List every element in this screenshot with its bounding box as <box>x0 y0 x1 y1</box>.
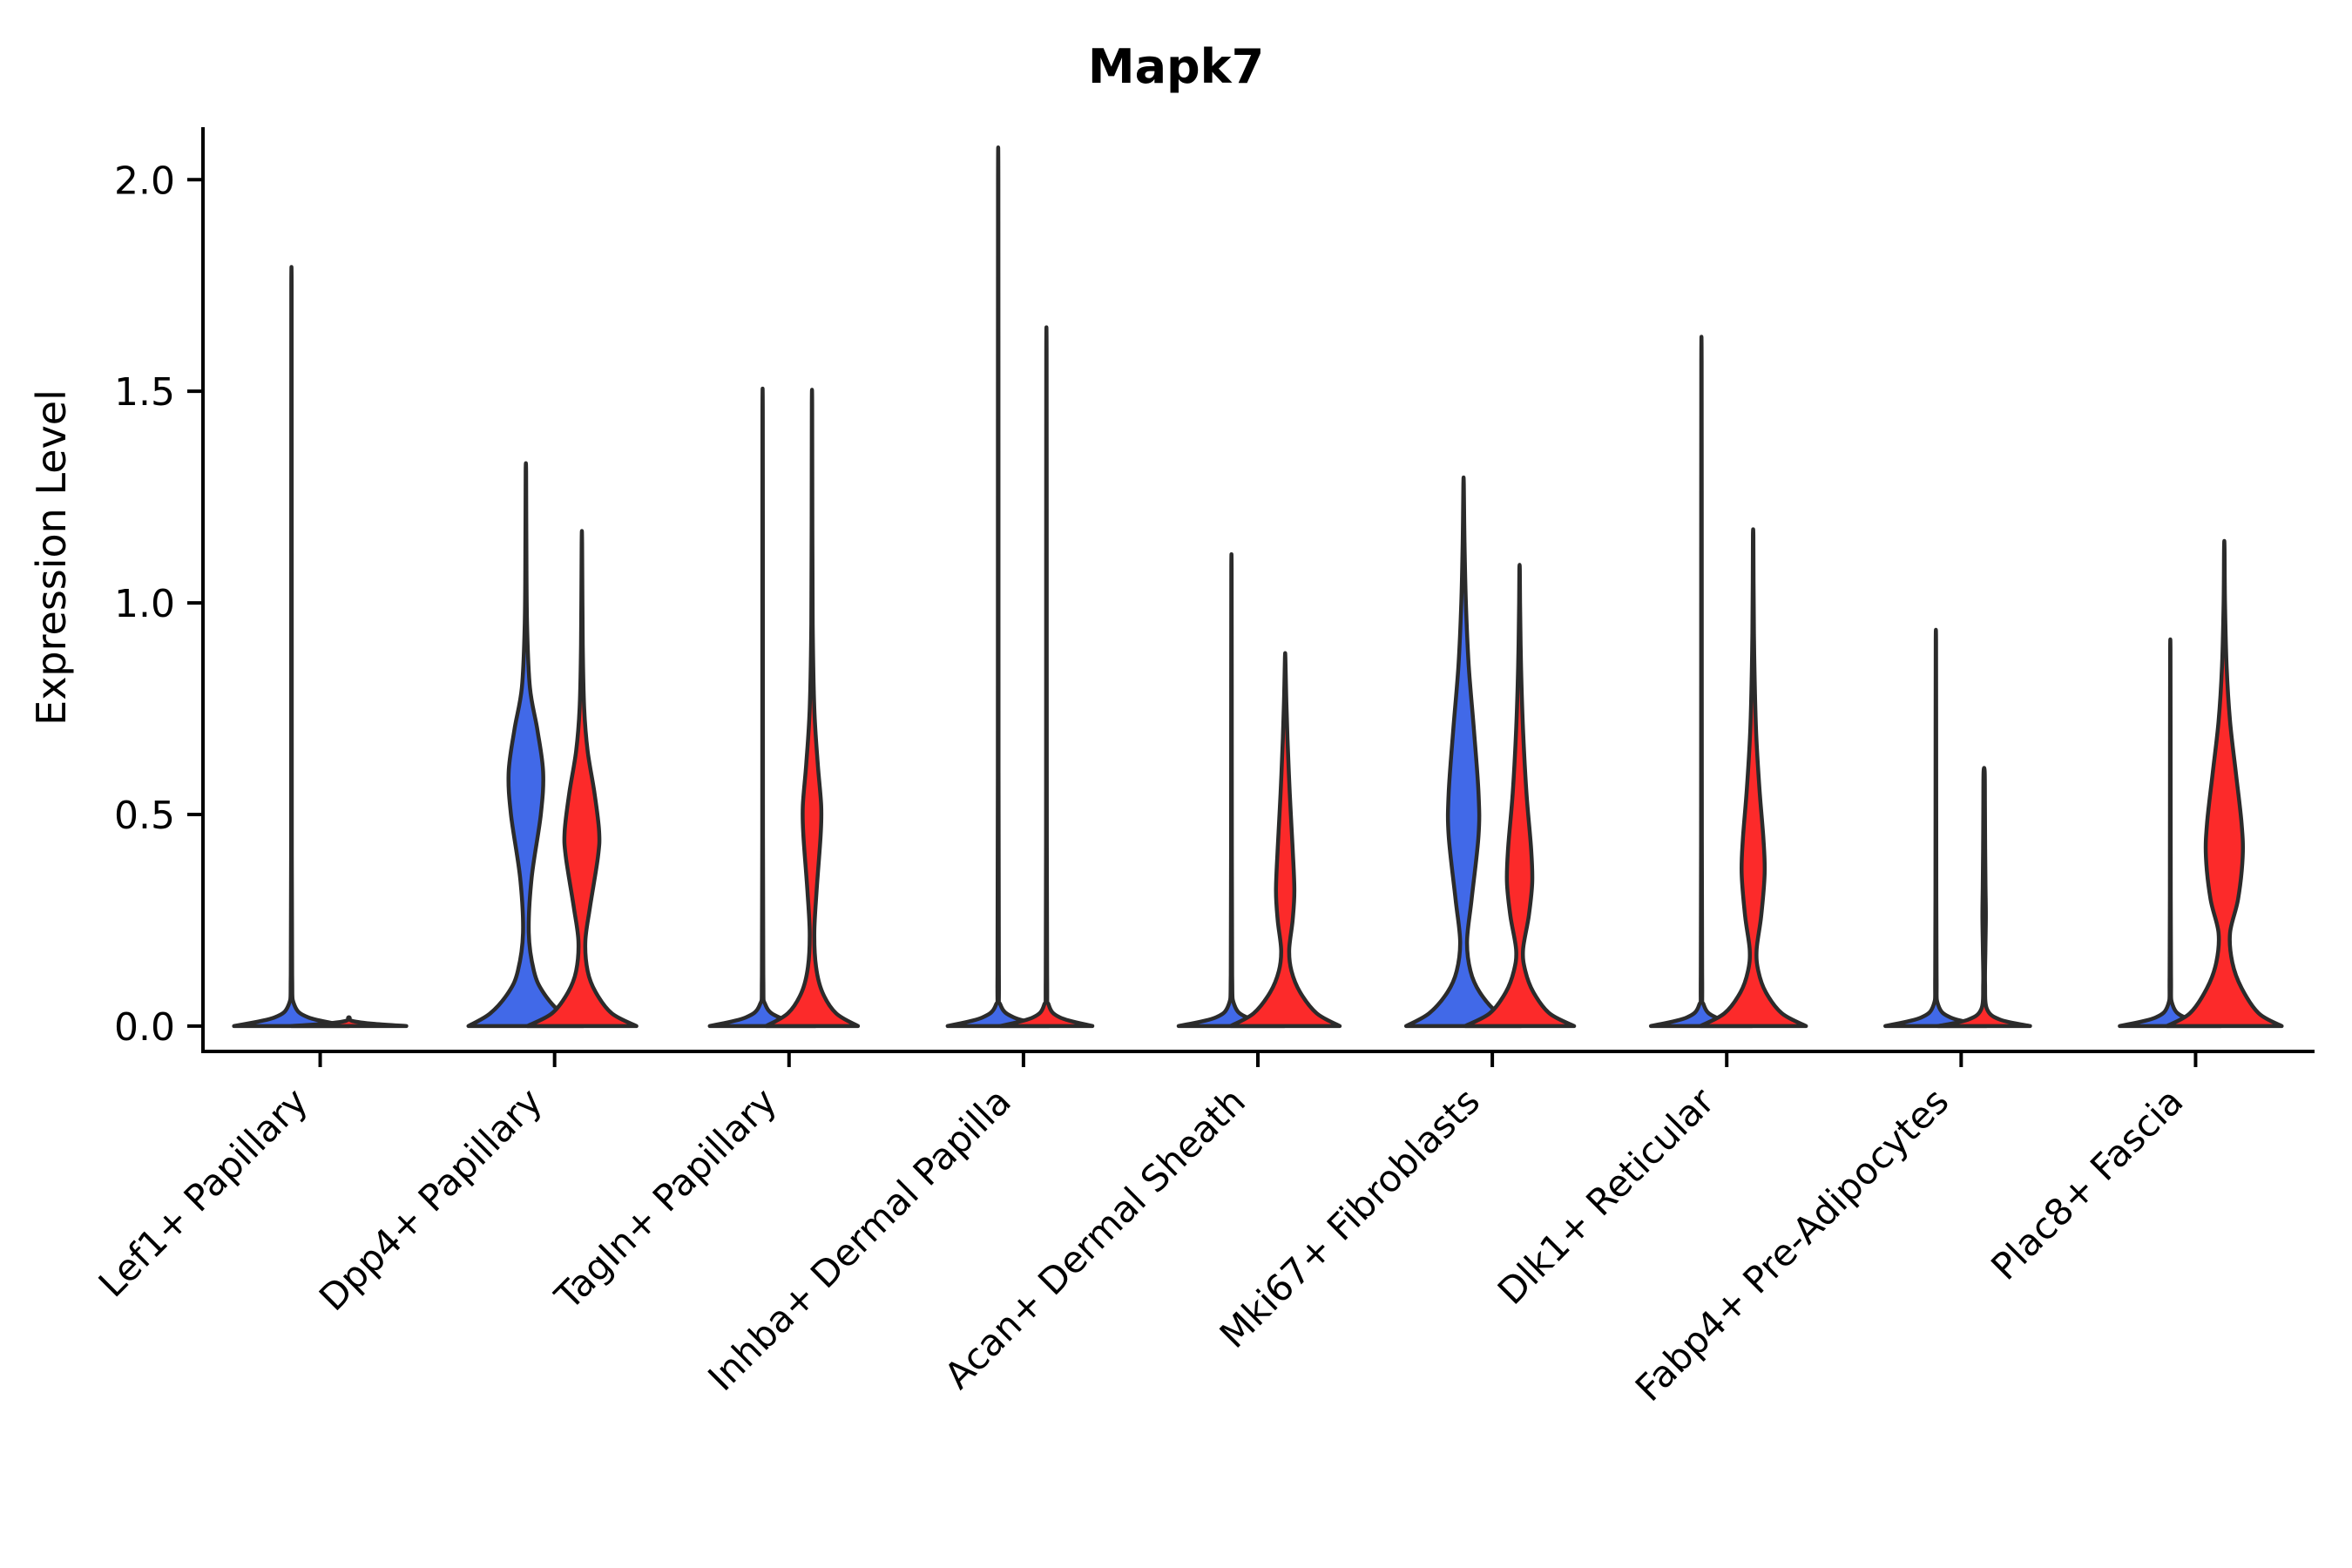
x-axis-labels: Lef1+ PapillaryDpp4+ PapillaryTagIn+ Pap… <box>91 1079 2192 1409</box>
violin-plot-figure: Mapk7 Expression Level 0.00.51.01.52.0 L… <box>0 0 2352 1568</box>
x-tick-label-0: Lef1+ Papillary <box>91 1079 316 1305</box>
y-tick-label: 2.0 <box>114 159 175 203</box>
y-axis-ticks: 0.00.51.01.52.0 <box>114 159 203 1050</box>
violin-red-8 <box>2166 541 2281 1026</box>
violin-blue-5 <box>1406 477 1521 1026</box>
violin-blue-6 <box>1651 337 1752 1026</box>
violin-blue-0 <box>234 267 349 1025</box>
violin-red-6 <box>1700 530 1806 1026</box>
violin-red-3 <box>1001 328 1092 1026</box>
violin-blue-3 <box>948 147 1049 1026</box>
y-tick-label: 1.0 <box>114 582 175 626</box>
y-tick-label: 0.0 <box>114 1005 175 1050</box>
x-tick-label-1: Dpp4+ Papillary <box>311 1079 551 1319</box>
x-tick-label-5: Mki67+ Fibroblasts <box>1212 1079 1488 1355</box>
violin-red-4 <box>1231 653 1340 1026</box>
page-title: Mapk7 <box>1088 39 1264 94</box>
x-axis-ticks <box>321 1051 2196 1067</box>
violin-red-2 <box>766 389 858 1025</box>
violin-blue-1 <box>469 463 584 1026</box>
x-tick-label-2: TagIn+ Papillary <box>546 1079 785 1318</box>
plot-canvas: Mapk7 Expression Level 0.00.51.01.52.0 L… <box>0 0 2352 1568</box>
violin-blue-7 <box>1885 630 1986 1026</box>
violin-red-5 <box>1465 564 1574 1026</box>
x-tick-label-8: Plac8+ Fascia <box>1983 1079 2191 1288</box>
y-axis-title: Expression Level <box>28 389 75 726</box>
y-tick-label: 0.5 <box>114 794 175 838</box>
violins-layer <box>234 147 2282 1026</box>
y-tick-label: 1.5 <box>114 370 175 415</box>
violin-blue-4 <box>1179 554 1284 1026</box>
x-tick-label-6: Dlk1+ Reticular <box>1490 1079 1723 1313</box>
violin-red-7 <box>1938 768 2030 1026</box>
violin-blue-2 <box>710 389 815 1026</box>
